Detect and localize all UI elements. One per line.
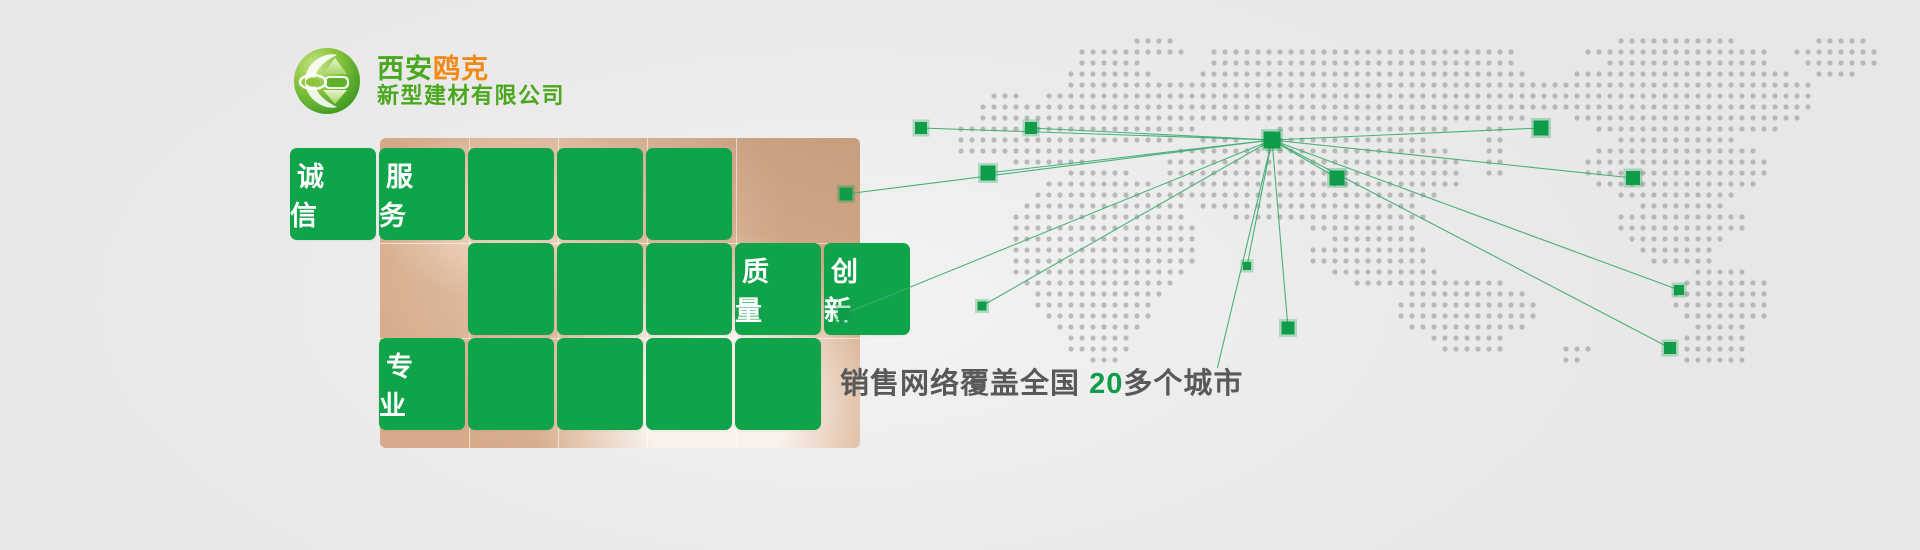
map-dot — [1068, 324, 1073, 329]
map-dot — [1266, 60, 1271, 65]
map-dot — [1112, 181, 1117, 186]
map-dot — [1640, 236, 1645, 241]
map-dot — [958, 148, 963, 153]
map-dot — [1629, 93, 1634, 98]
map-dot — [1299, 49, 1304, 54]
map-dot — [1178, 181, 1183, 186]
map-dot — [1266, 115, 1271, 120]
map-dot — [1607, 181, 1612, 186]
map-dot — [1695, 71, 1700, 76]
map-dot — [1321, 82, 1326, 87]
map-dot — [1090, 148, 1095, 153]
map-dot — [1079, 225, 1084, 230]
map-dot — [1134, 225, 1139, 230]
map-dot — [1090, 269, 1095, 274]
map-dot — [1640, 104, 1645, 109]
value-tile-blank-13 — [646, 338, 732, 430]
map-dot — [1464, 324, 1469, 329]
map-dot — [1134, 181, 1139, 186]
map-dot — [1409, 269, 1414, 274]
map-city-node[interactable] — [840, 188, 853, 201]
map-dot — [1629, 148, 1634, 153]
map-dot — [1090, 335, 1095, 340]
map-dot — [1354, 49, 1359, 54]
map-city-node[interactable] — [1282, 322, 1295, 335]
map-dot — [1156, 126, 1161, 131]
map-dot — [1662, 192, 1667, 197]
map-dot — [1684, 357, 1689, 362]
map-dot — [1266, 181, 1271, 186]
map-dot — [1717, 49, 1722, 54]
map-dot — [1409, 115, 1414, 120]
map-dot — [1101, 346, 1106, 351]
map-dot — [1684, 126, 1689, 131]
map-dot — [1376, 236, 1381, 241]
map-dot — [1255, 181, 1260, 186]
map-dot — [1827, 49, 1832, 54]
map-dot — [1464, 313, 1469, 318]
map-dot — [1442, 60, 1447, 65]
map-dot — [1112, 192, 1117, 197]
value-tile-blank-4 — [646, 148, 732, 240]
map-dot — [1255, 82, 1260, 87]
map-dot — [1376, 82, 1381, 87]
map-dot — [1288, 170, 1293, 175]
tagline-prefix: 销售网络覆盖全国 — [840, 368, 1089, 400]
map-dot — [1101, 49, 1106, 54]
map-dot — [1695, 291, 1700, 296]
map-dot — [1519, 71, 1524, 76]
map-dot — [1409, 60, 1414, 65]
map-dot — [1321, 60, 1326, 65]
map-dot — [1717, 192, 1722, 197]
map-dot — [1090, 170, 1095, 175]
map-dot — [1761, 115, 1766, 120]
map-dot — [1695, 313, 1700, 318]
map-dot — [1299, 214, 1304, 219]
map-dot — [1783, 93, 1788, 98]
map-dot — [1739, 324, 1744, 329]
map-dot — [1772, 115, 1777, 120]
map-dot — [1552, 82, 1557, 87]
map-dot — [1618, 49, 1623, 54]
map-dot — [1640, 192, 1645, 197]
map-dot — [1640, 126, 1645, 131]
map-dot — [1068, 313, 1073, 318]
map-dot — [1035, 236, 1040, 241]
map-dot — [1255, 115, 1260, 120]
map-dot — [1651, 49, 1656, 54]
value-tile-0: 诚 信 — [290, 148, 376, 240]
map-dot — [1365, 181, 1370, 186]
map-dot — [1068, 214, 1073, 219]
map-dot — [1453, 71, 1458, 76]
map-city-nodes — [836, 118, 1687, 368]
map-city-node[interactable] — [1534, 121, 1549, 136]
map-city-node[interactable] — [1243, 262, 1251, 270]
map-dot — [1860, 38, 1865, 43]
map-dot — [1200, 115, 1205, 120]
map-dot — [1486, 324, 1491, 329]
map-dot — [1486, 313, 1491, 318]
map-dot — [1387, 137, 1392, 142]
map-dot — [1673, 225, 1678, 230]
map-dot — [1695, 126, 1700, 131]
map-dot — [1101, 302, 1106, 307]
map-dot — [1475, 82, 1480, 87]
map-dot — [1739, 60, 1744, 65]
map-dot — [1420, 137, 1425, 142]
map-dot — [1662, 247, 1667, 252]
map-dot — [1090, 291, 1095, 296]
map-dot — [1057, 269, 1062, 274]
map-dot — [1673, 71, 1678, 76]
map-dot — [1717, 93, 1722, 98]
map-dot — [1497, 148, 1502, 153]
map-dot — [1717, 346, 1722, 351]
map-dot — [1409, 71, 1414, 76]
map-dot — [1112, 93, 1117, 98]
map-dot — [1277, 49, 1282, 54]
map-dot — [1409, 203, 1414, 208]
map-dot — [1222, 49, 1227, 54]
map-dot — [1299, 170, 1304, 175]
map-dot — [1640, 159, 1645, 164]
map-dot — [1046, 269, 1051, 274]
map-city-node[interactable] — [1674, 285, 1684, 295]
map-dot — [1387, 49, 1392, 54]
map-dot — [1332, 148, 1337, 153]
map-dot — [1365, 159, 1370, 164]
map-dot — [1288, 126, 1293, 131]
map-dot — [1607, 82, 1612, 87]
map-dot — [1200, 71, 1205, 76]
map-dot — [1662, 170, 1667, 175]
map-dot — [1145, 115, 1150, 120]
map-city-node[interactable] — [978, 302, 987, 311]
map-dot — [1662, 225, 1667, 230]
map-dot — [1112, 137, 1117, 142]
map-dot — [1497, 104, 1502, 109]
map-dot — [1299, 159, 1304, 164]
map-dot — [1002, 115, 1007, 120]
map-dot — [1442, 82, 1447, 87]
map-dot — [1013, 93, 1018, 98]
map-dot — [1343, 148, 1348, 153]
map-dot — [1244, 203, 1249, 208]
map-dot — [1442, 104, 1447, 109]
map-dot — [1035, 258, 1040, 263]
map-dot — [1849, 71, 1854, 76]
map-dot — [1717, 269, 1722, 274]
map-dot — [1640, 38, 1645, 43]
map-dot — [1332, 258, 1337, 263]
map-dot — [1211, 60, 1216, 65]
map-dot — [1398, 71, 1403, 76]
map-dot — [1717, 291, 1722, 296]
map-dot — [1816, 71, 1821, 76]
map-city-node[interactable] — [1330, 171, 1345, 186]
map-dot — [1684, 203, 1689, 208]
map-dot — [1728, 159, 1733, 164]
map-dot — [1871, 49, 1876, 54]
map-dot — [1167, 236, 1172, 241]
map-dot — [1134, 313, 1139, 318]
map-dot — [1013, 225, 1018, 230]
map-dot — [1706, 335, 1711, 340]
map-dot — [1046, 104, 1051, 109]
map-dot — [1750, 313, 1755, 318]
map-dot — [1684, 225, 1689, 230]
map-dot — [1035, 192, 1040, 197]
map-dot — [1695, 104, 1700, 109]
map-hub-node[interactable] — [1264, 132, 1281, 149]
map-dot — [1596, 93, 1601, 98]
map-dot — [1112, 313, 1117, 318]
map-dot — [1310, 49, 1315, 54]
map-dot — [1651, 93, 1656, 98]
map-dot — [1079, 137, 1084, 142]
map-dot — [1596, 49, 1601, 54]
map-dot — [1695, 335, 1700, 340]
map-dot — [1277, 104, 1282, 109]
map-dot — [1640, 137, 1645, 142]
map-dot — [1739, 269, 1744, 274]
map-dot — [1244, 181, 1249, 186]
map-dot — [1167, 247, 1172, 252]
company-logo[interactable]: 西安鸥克 新型建材有限公司 — [291, 45, 565, 117]
map-dot — [1068, 269, 1073, 274]
map-dot — [1090, 192, 1095, 197]
map-dot — [1640, 214, 1645, 219]
map-dot — [1453, 346, 1458, 351]
map-dot — [1717, 236, 1722, 241]
map-dot — [1695, 93, 1700, 98]
map-dot — [1684, 60, 1689, 65]
map-dot — [1618, 159, 1623, 164]
map-dot — [1431, 126, 1436, 131]
map-dot — [1376, 203, 1381, 208]
map-dot — [1123, 225, 1128, 230]
map-dot — [1453, 93, 1458, 98]
map-dot — [1134, 258, 1139, 263]
map-dot — [1079, 181, 1084, 186]
map-dot — [1046, 302, 1051, 307]
map-dot — [1398, 280, 1403, 285]
map-dot — [1486, 82, 1491, 87]
map-dot — [1662, 115, 1667, 120]
map-dot — [1090, 71, 1095, 76]
map-dot — [1596, 126, 1601, 131]
map-dot — [1222, 170, 1227, 175]
map-dot — [980, 137, 985, 142]
map-dot — [1354, 115, 1359, 120]
map-dot — [1112, 280, 1117, 285]
value-tile-blank-5 — [468, 243, 554, 335]
map-dot — [1761, 71, 1766, 76]
map-dot — [1398, 49, 1403, 54]
map-dot — [1090, 346, 1095, 351]
map-dot — [1596, 159, 1601, 164]
map-dot — [1695, 82, 1700, 87]
map-dot — [1101, 291, 1106, 296]
map-dot — [1167, 214, 1172, 219]
map-dot — [1772, 93, 1777, 98]
map-dot — [1321, 148, 1326, 153]
map-dot — [1167, 159, 1172, 164]
map-dot — [1101, 214, 1106, 219]
map-dot — [1332, 214, 1337, 219]
map-dot — [1090, 181, 1095, 186]
map-dot — [1497, 291, 1502, 296]
map-dot — [1134, 60, 1139, 65]
map-dot — [1453, 181, 1458, 186]
map-dot — [1354, 192, 1359, 197]
map-dot — [1596, 148, 1601, 153]
map-dot — [1189, 82, 1194, 87]
map-dot — [1420, 324, 1425, 329]
map-dot — [1519, 104, 1524, 109]
map-dot — [1134, 324, 1139, 329]
map-dot — [1739, 225, 1744, 230]
map-dot — [1673, 159, 1678, 164]
map-dot — [1706, 302, 1711, 307]
map-dot — [1068, 181, 1073, 186]
map-dot — [1618, 38, 1623, 43]
map-dot — [1189, 93, 1194, 98]
map-dot — [1662, 82, 1667, 87]
map-dot — [1310, 148, 1315, 153]
map-dot — [1409, 126, 1414, 131]
map-dot — [1398, 313, 1403, 318]
map-dot — [1057, 181, 1062, 186]
map-dot — [1134, 71, 1139, 76]
map-dot — [1673, 137, 1678, 142]
map-dot — [1640, 93, 1645, 98]
map-dot — [1024, 104, 1029, 109]
map-dot — [1728, 280, 1733, 285]
map-city-node[interactable] — [838, 308, 850, 320]
map-dot — [1684, 71, 1689, 76]
map-dot — [1068, 236, 1073, 241]
map-dot — [1475, 104, 1480, 109]
map-dot — [1277, 192, 1282, 197]
map-dot — [1035, 225, 1040, 230]
map-dot — [1321, 126, 1326, 131]
map-dot — [1398, 159, 1403, 164]
map-dot — [1607, 104, 1612, 109]
map-dot — [1772, 126, 1777, 131]
map-dot — [1453, 170, 1458, 175]
map-dot — [1398, 214, 1403, 219]
map-dot — [1288, 71, 1293, 76]
map-dot — [1090, 60, 1095, 65]
map-dot — [1332, 269, 1337, 274]
map-dot — [1112, 82, 1117, 87]
map-dot — [1145, 203, 1150, 208]
map-dot — [1739, 104, 1744, 109]
map-dot — [1431, 280, 1436, 285]
map-dot — [1057, 137, 1062, 142]
map-dot — [1343, 115, 1348, 120]
map-dot — [1013, 137, 1018, 142]
map-dot — [1156, 269, 1161, 274]
map-dot — [1101, 115, 1106, 120]
map-dot — [1431, 324, 1436, 329]
map-dot — [1761, 313, 1766, 318]
map-city-node[interactable] — [1626, 171, 1640, 185]
map-dot — [1156, 137, 1161, 142]
map-dot — [1684, 49, 1689, 54]
map-dot — [1167, 93, 1172, 98]
map-dot — [1750, 148, 1755, 153]
map-dot — [1728, 38, 1733, 43]
map-dot — [1497, 71, 1502, 76]
map-dot — [1651, 181, 1656, 186]
map-dot — [1277, 82, 1282, 87]
map-dot — [1079, 280, 1084, 285]
map-dot — [1354, 214, 1359, 219]
map-dot — [1442, 148, 1447, 153]
map-dot — [1277, 115, 1282, 120]
map-dot — [1079, 236, 1084, 241]
map-dot — [1816, 38, 1821, 43]
map-dot — [1079, 82, 1084, 87]
map-dot — [1376, 49, 1381, 54]
map-dot — [1145, 214, 1150, 219]
map-dot — [1805, 82, 1810, 87]
map-dot — [1145, 126, 1150, 131]
map-city-node[interactable] — [915, 122, 927, 134]
map-dot — [1189, 192, 1194, 197]
map-dot — [1101, 126, 1106, 131]
map-dot — [1728, 324, 1733, 329]
map-dot — [1035, 291, 1040, 296]
map-dot — [1068, 291, 1073, 296]
map-dot — [1387, 214, 1392, 219]
map-dot — [1420, 148, 1425, 153]
map-dot — [1376, 137, 1381, 142]
map-dot — [1189, 159, 1194, 164]
map-dot — [1387, 280, 1392, 285]
map-city-node[interactable] — [1664, 342, 1676, 354]
map-dot — [1112, 269, 1117, 274]
map-dot — [1090, 313, 1095, 318]
map-dot — [1739, 170, 1744, 175]
map-dot — [1728, 60, 1733, 65]
map-city-node[interactable] — [981, 166, 996, 181]
map-dot — [1409, 247, 1414, 252]
map-dot — [1409, 280, 1414, 285]
map-dot — [1431, 170, 1436, 175]
map-dot — [1046, 137, 1051, 142]
map-dot — [1585, 71, 1590, 76]
map-dot — [1431, 291, 1436, 296]
map-dot — [1508, 93, 1513, 98]
map-dot — [1706, 214, 1711, 219]
map-dot — [1233, 192, 1238, 197]
map-dot — [1541, 104, 1546, 109]
map-dot — [1497, 82, 1502, 87]
map-dot — [1343, 247, 1348, 252]
map-dot — [1365, 60, 1370, 65]
map-dot — [1728, 225, 1733, 230]
map-city-node[interactable] — [1025, 122, 1037, 134]
map-dot — [1684, 258, 1689, 263]
map-dot — [1486, 302, 1491, 307]
logo-text-block: 西安鸥克 新型建材有限公司 — [377, 56, 565, 107]
map-dot — [1222, 82, 1227, 87]
